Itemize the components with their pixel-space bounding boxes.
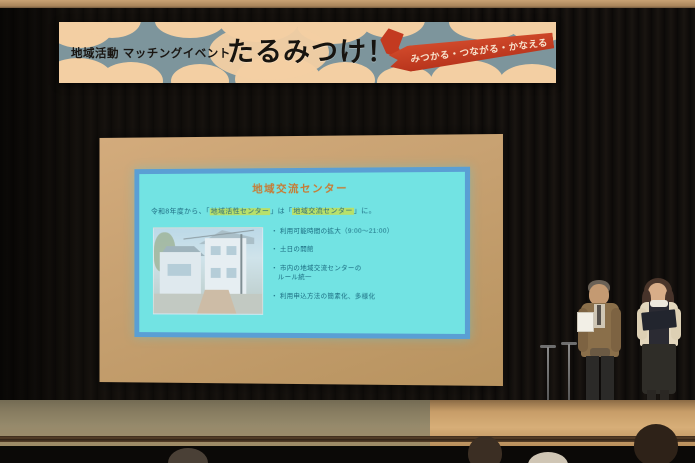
arm-shape [611, 308, 621, 352]
bullet-marker: ・ [271, 293, 278, 300]
window-shape [211, 246, 221, 255]
utility-pole-shape [240, 234, 242, 296]
presentation-slide: 地域交流センター 令和8年度から、「地域活性センター」は「地域交流センター」に。 [134, 167, 470, 339]
window-shape [211, 268, 221, 278]
list-item: ・利用可能時間の拡大（9:00〜21:00） [271, 227, 463, 237]
bullet-marker: ・ [271, 246, 278, 253]
bullet-marker: ・ [271, 228, 278, 235]
event-banner: 地域活動 マッチングイベント たるみつけ！ みつかる・つながる・かなえる [59, 22, 556, 83]
window-shape [168, 264, 192, 276]
list-item: ・市内の地域交流センターの ルール統一 [271, 264, 463, 283]
audience-head [168, 448, 208, 463]
audience-head [528, 452, 568, 463]
stage-front-edge [0, 436, 695, 442]
bullet-text: 土日の開館 [280, 246, 314, 253]
presenter-female: 資料フォルダ [636, 278, 688, 420]
head-shape [589, 284, 609, 305]
slide-title: 地域交流センター [139, 180, 465, 197]
window-shape [227, 246, 237, 255]
lead-prefix: 令和8年度から、 [151, 208, 206, 215]
bullet-text-continued: ルール統一 [271, 274, 312, 281]
window-shape [227, 268, 237, 278]
audience-head [468, 436, 502, 463]
bullet-marker: ・ [271, 265, 278, 272]
bullet-text: 利用申込方法の簡素化、多様化 [280, 293, 376, 300]
lead-highlight-old-name: 地域活性センター [210, 208, 271, 215]
projection-screen: 地域交流センター 令和8年度から、「地域活性センター」は「地域交流センター」に。 [100, 134, 503, 386]
skirt-shape [642, 344, 676, 394]
lead-middle: は [278, 208, 285, 215]
name-badge: 名札 [577, 312, 594, 332]
necktie-shape [597, 305, 601, 325]
stage-photograph: 地域活動 マッチングイベント たるみつけ！ みつかる・つながる・かなえる 地域交… [0, 0, 695, 463]
lead-suffix: に。 [361, 208, 376, 215]
document-folder: 資料フォルダ [641, 309, 677, 330]
lead-highlight-new-name: 地域交流センター [292, 208, 353, 215]
quote-close-1: 」 [270, 208, 277, 215]
bullet-text: 利用可能時間の拡大（9:00〜21:00） [280, 228, 394, 235]
list-item: ・利用申込方法の簡素化、多様化 [271, 292, 463, 302]
cloud-shape [99, 62, 163, 83]
slide-bullet-list: ・利用可能時間の拡大（9:00〜21:00） ・土日の開館 ・市内の地域交流セン… [271, 227, 463, 311]
banner-main-title: たるみつけ！ [227, 30, 395, 69]
quote-close-2: 」 [354, 208, 361, 215]
slide-building-photo: 地域交流センター外観写真 [153, 227, 263, 315]
slide-lead-text: 令和8年度から、「地域活性センター」は「地域交流センター」に。 [151, 205, 463, 216]
cloud-shape [499, 64, 556, 83]
collar-shape [650, 300, 668, 307]
audience-head [634, 424, 678, 463]
bullet-text: 市内の地域交流センターの [280, 265, 362, 272]
list-item: ・土日の開館 [271, 245, 463, 255]
presenter-male: 名札 [578, 280, 628, 420]
cloud-shape [155, 22, 225, 38]
banner-subtitle: 地域活動 マッチングイベント [71, 45, 231, 61]
